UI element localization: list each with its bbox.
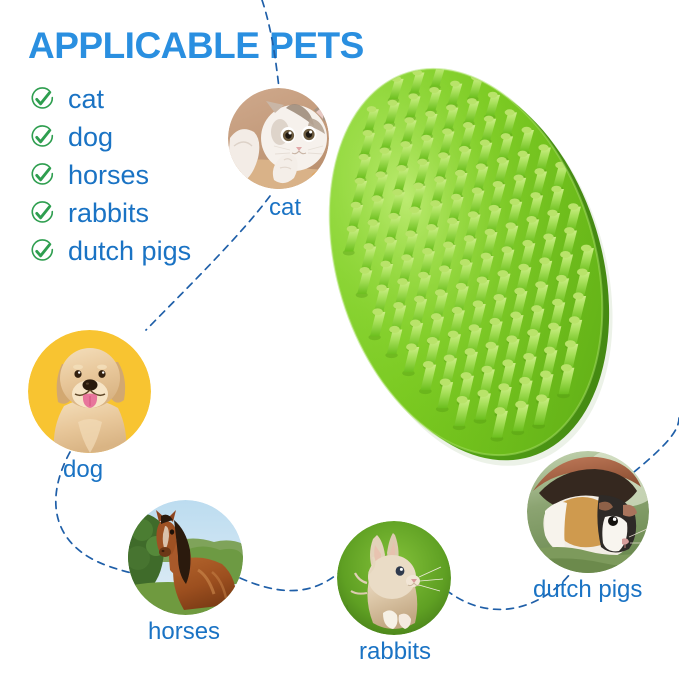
list-item: rabbits (30, 194, 280, 232)
list-item: dutch pigs (30, 232, 280, 270)
pet-node-dutch-pigs: dutch pigs (527, 451, 649, 573)
pet-node-rabbits: rabbits (337, 521, 451, 635)
infographic-canvas: APPLICABLE PETS cat dog (0, 0, 679, 679)
pet-photo-horses (128, 500, 243, 615)
check-circle-icon (30, 239, 55, 264)
list-item-label: dutch pigs (68, 238, 191, 265)
pet-label-dutch-pigs: dutch pigs (533, 576, 642, 604)
check-circle-icon (30, 125, 55, 150)
list-item-label: cat (68, 86, 104, 113)
pet-node-horses: horses (128, 500, 243, 615)
pet-photo-dutch-pigs (527, 451, 649, 573)
pet-label-cat: cat (269, 194, 301, 222)
list-item-label: dog (68, 124, 113, 151)
product-image-silicone-brush (316, 46, 616, 482)
check-circle-icon (30, 163, 55, 188)
page-title: APPLICABLE PETS (28, 25, 364, 67)
pet-label-dog: dog (63, 456, 103, 484)
pet-label-horses: horses (148, 618, 220, 646)
pet-label-rabbits: rabbits (359, 638, 431, 666)
pet-node-cat: cat (228, 88, 329, 189)
check-circle-icon (30, 201, 55, 226)
list-item-label: rabbits (68, 200, 149, 227)
list-item-label: horses (68, 162, 149, 189)
pet-node-dog: dog (28, 330, 151, 453)
pet-photo-cat (228, 88, 329, 189)
pet-photo-rabbits (337, 521, 451, 635)
pet-photo-dog (28, 330, 151, 453)
check-circle-icon (30, 87, 55, 112)
